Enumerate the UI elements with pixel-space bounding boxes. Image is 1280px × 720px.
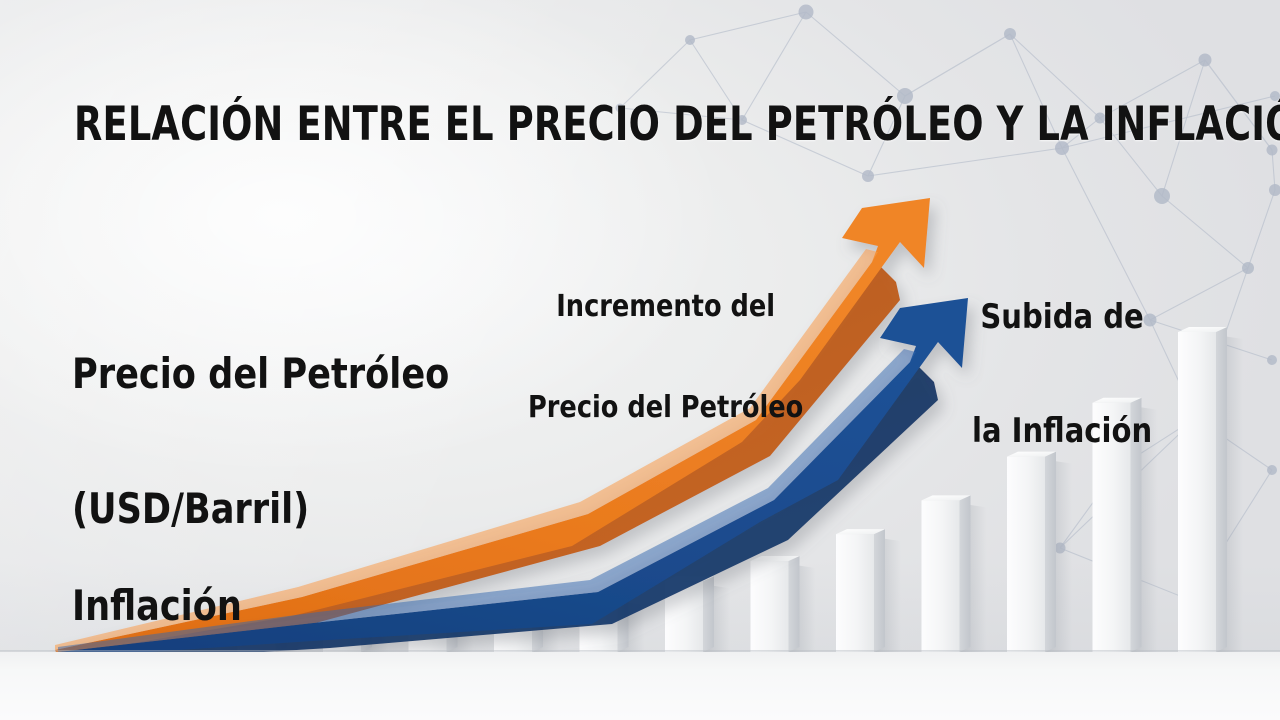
label-inflation: Inflación Económica: [72, 494, 283, 720]
page-title: RELACIÓN ENTRE EL PRECIO DEL PETRÓLEO Y …: [74, 97, 1280, 152]
label-inflation-line1: Inflación: [72, 584, 283, 629]
label-oil-price-line1: Precio del Petróleo: [72, 352, 449, 397]
annotation-inflation-rise-line2: la Inflación: [972, 412, 1152, 450]
annotation-inflation-rise: Subida de la Inflación: [972, 222, 1152, 527]
annotation-oil-increase: Incremento del Precio del Petróleo: [528, 222, 803, 493]
annotation-inflation-rise-line1: Subida de: [972, 298, 1152, 336]
infographic-canvas: RELACIÓN ENTRE EL PRECIO DEL PETRÓLEO Y …: [0, 0, 1280, 720]
annotation-oil-increase-line1: Incremento del: [528, 290, 803, 324]
annotation-oil-increase-line2: Precio del Petróleo: [528, 391, 803, 425]
